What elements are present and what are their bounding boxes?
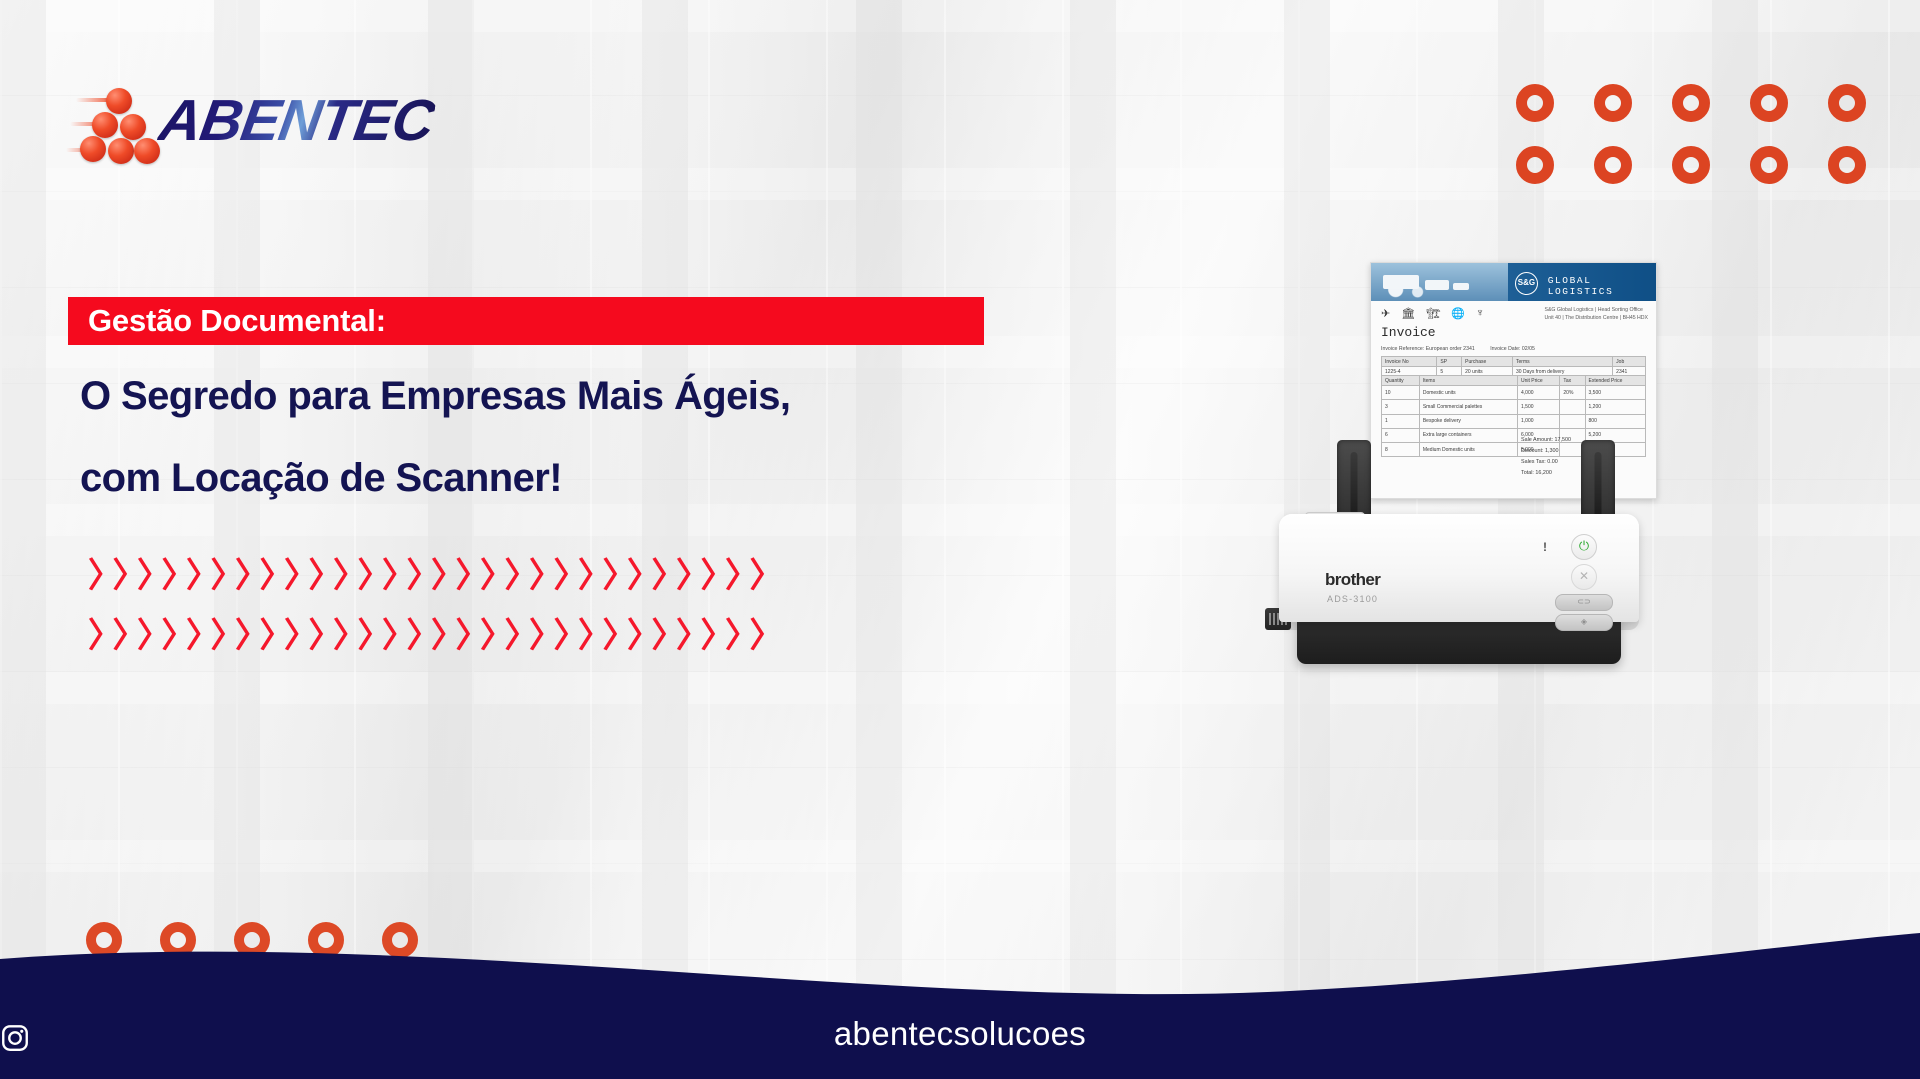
abentec-logo[interactable]: ABENTEC [76, 82, 436, 160]
table-cell: 3 [1382, 400, 1420, 414]
ring-icon [1750, 146, 1788, 184]
table-cell: Medium Domestic units [1419, 442, 1517, 456]
warning-icon: ! [1543, 540, 1547, 554]
chevron-row-1: 〉〉〉〉〉〉〉〉〉〉〉〉〉〉〉〉〉〉〉〉〉〉〉〉〉〉〉〉 [88, 548, 791, 597]
scan-button-2[interactable]: ◈ [1555, 614, 1613, 631]
ring-icon [1594, 84, 1632, 122]
table-cell: 1,200 [1585, 400, 1645, 414]
total-discount: Discount: 1,300 [1521, 446, 1571, 457]
table-cell [1560, 414, 1585, 428]
invoice-date: Invoice Date: 02/05 [1490, 346, 1535, 352]
invoice-totals: Sale Amount: 17,500 Discount: 1,300 Sale… [1521, 435, 1571, 479]
ring-icon [1828, 84, 1866, 122]
table-cell [1560, 400, 1585, 414]
column-header: Extended Price [1585, 376, 1645, 386]
invoice-title: Invoice [1381, 325, 1436, 340]
column-header: Tax [1560, 376, 1585, 386]
invoice-address-line-2: Unit 40 | The Distribution Centre | BH45… [1544, 314, 1648, 322]
table-cell: 6 [1382, 428, 1420, 442]
scanner-control-panel[interactable]: ! ⏻ ✕ ⊂⊃ ◈ [1541, 528, 1613, 616]
table-row: 3Small Commercial palettes1,5001,200 [1382, 400, 1646, 414]
logo-wordmark: ABENTEC [154, 86, 438, 156]
forklift-icon: 🏗 [1426, 307, 1440, 320]
ring-icon [1672, 146, 1710, 184]
table-cell: Extra large containers [1419, 428, 1517, 442]
table-row: 1Bespoke delivery1,000800 [1382, 414, 1646, 428]
eyebrow-banner: Gestão Documental: [68, 297, 984, 345]
table-cell: Domestic units [1419, 386, 1517, 400]
handling-icon: ♆ [1476, 307, 1484, 320]
sg-badge: S&G [1515, 272, 1538, 295]
column-header: Invoice No [1382, 357, 1437, 367]
invoice-meta: Invoice Reference: European order 2341 I… [1381, 346, 1549, 352]
scanner-brand-label: brother [1325, 570, 1380, 590]
stop-button[interactable]: ✕ [1571, 564, 1597, 590]
ring-icon [1516, 84, 1554, 122]
table-header-row: Invoice NoSPPurchaseTermsJob [1382, 357, 1646, 367]
table-cell: 20% [1560, 386, 1585, 400]
ring-icon [1516, 146, 1554, 184]
table-cell: 1 [1382, 414, 1420, 428]
instagram-handle-text: abentecsolucoes [834, 1015, 1086, 1052]
footer-wave-shape [0, 919, 1920, 1079]
table-cell: 1,000 [1518, 414, 1560, 428]
table-cell: 8 [1382, 442, 1420, 456]
chevron-row-2: 〉〉〉〉〉〉〉〉〉〉〉〉〉〉〉〉〉〉〉〉〉〉〉〉〉〉〉〉 [88, 608, 791, 657]
plane-icon: ✈ [1381, 307, 1390, 320]
table-cell: Small Commercial palettes [1419, 400, 1517, 414]
total-amount: Total: 16,200 [1521, 468, 1571, 479]
column-header: Terms [1513, 357, 1613, 367]
ring-icon [1750, 84, 1788, 122]
column-header: Quantity [1382, 376, 1420, 386]
table-cell: Bespoke delivery [1419, 414, 1517, 428]
banner-canvas: ABENTEC Gestão Documental: O Segredo par… [0, 0, 1920, 1079]
table-cell: 3,500 [1585, 386, 1645, 400]
invoice-reference: Invoice Reference: European order 2341 [1381, 346, 1475, 352]
scanner-model-label: ADS-3100 [1327, 594, 1378, 604]
total-sale-amount: Sale Amount: 17,500 [1521, 435, 1571, 446]
table-cell: 10 [1382, 386, 1420, 400]
invoice-service-icons: ✈ 🏛 🏗 🌐 ♆ [1381, 307, 1484, 320]
table-cell: 800 [1585, 414, 1645, 428]
footer: abentecsolucoes [0, 919, 1920, 1079]
invoice-address-line-1: S&G Global Logistics | Head Sorting Offi… [1544, 306, 1648, 314]
invoice-address: S&G Global Logistics | Head Sorting Offi… [1544, 306, 1648, 322]
table-cell: 1,500 [1518, 400, 1560, 414]
scan-button-1[interactable]: ⊂⊃ [1555, 594, 1613, 611]
total-sales-tax: Sales Tax: 0.00 [1521, 457, 1571, 468]
ring-icon [1594, 146, 1632, 184]
invoice-header-band: S&G GLOBAL LOGISTICS [1371, 263, 1656, 301]
column-header: Items [1419, 376, 1517, 386]
headline-line-2: com Locação de Scanner! [80, 456, 562, 501]
column-header: Purchase [1462, 357, 1513, 367]
scanner-product-image: S&G GLOBAL LOGISTICS ✈ 🏛 🏗 🌐 ♆ S&G Globa… [1245, 262, 1705, 792]
instagram-icon [0, 1023, 30, 1053]
bank-icon: 🏛 [1401, 307, 1415, 320]
table-cell: 4,000 [1518, 386, 1560, 400]
table-row: 10Domestic units4,00020%3,500 [1382, 386, 1646, 400]
globe-icon: 🌐 [1451, 307, 1465, 320]
truck-photo [1371, 263, 1508, 301]
scanner-body: brother ADS-3100 ! ⏻ ✕ ⊂⊃ ◈ [1279, 514, 1639, 622]
ring-icon [1828, 146, 1866, 184]
power-button[interactable]: ⏻ [1571, 534, 1597, 560]
column-header: SP [1437, 357, 1462, 367]
eyebrow-text: Gestão Documental: [88, 303, 386, 339]
ring-pattern-top-right [1516, 84, 1906, 208]
headline-line-1: O Segredo para Empresas Mais Ágeis, [80, 374, 790, 419]
invoice-company-name: GLOBAL LOGISTICS [1548, 275, 1656, 297]
column-header: Job [1613, 357, 1646, 367]
ring-icon [1672, 84, 1710, 122]
table-header-row: QuantityItemsUnit PriceTaxExtended Price [1382, 376, 1646, 386]
column-header: Unit Price [1518, 376, 1560, 386]
instagram-handle-block[interactable]: abentecsolucoes [0, 1015, 1920, 1053]
